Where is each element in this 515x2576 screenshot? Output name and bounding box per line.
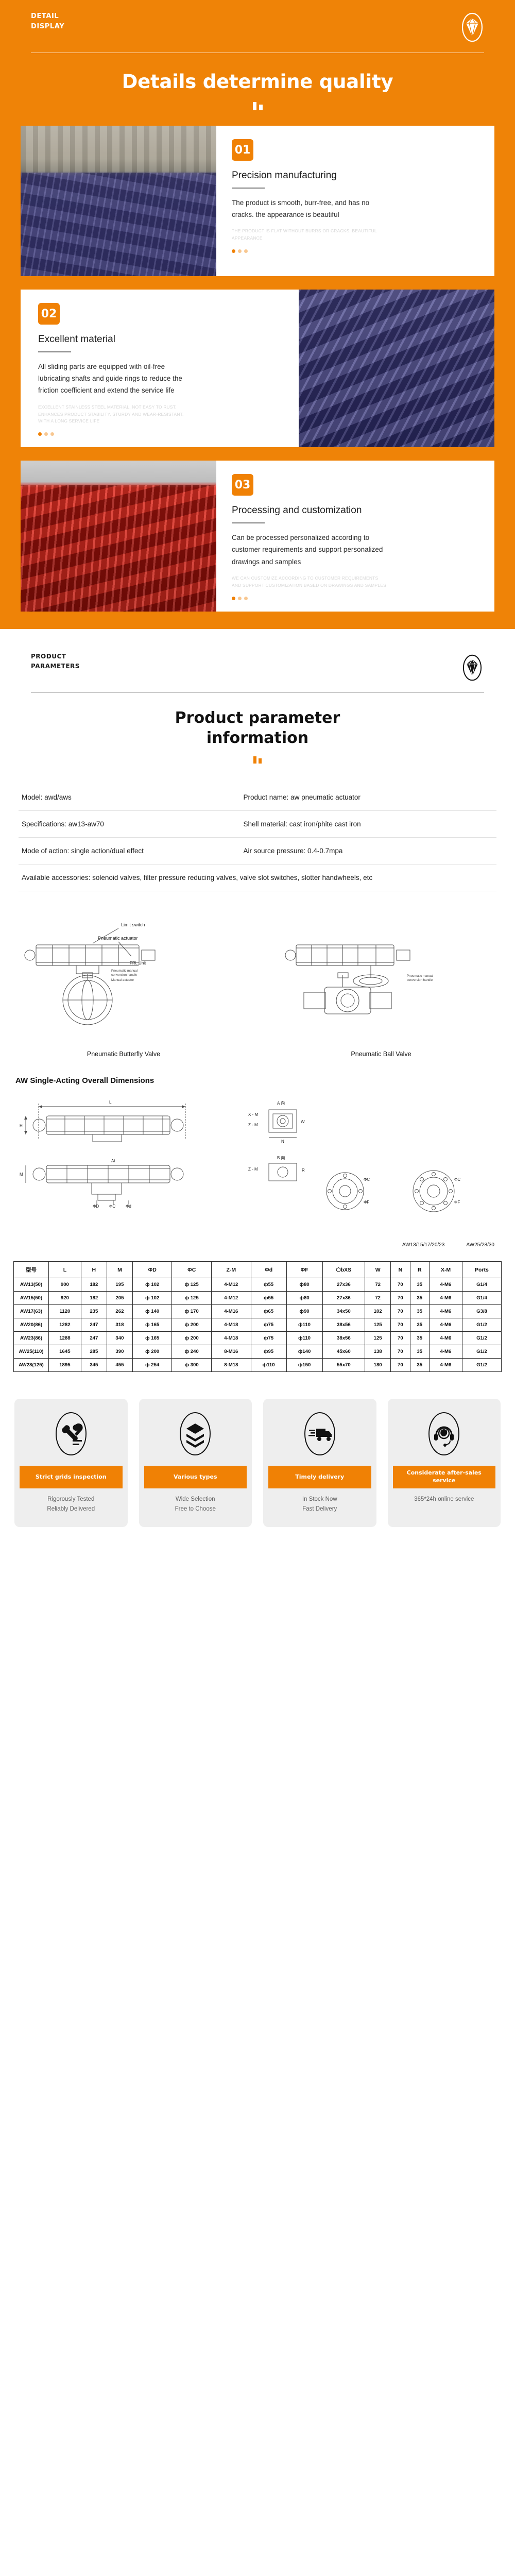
table-cell: G1/4 bbox=[462, 1278, 501, 1292]
feature-card-03-body: 03 Processing and customization Can be p… bbox=[216, 461, 494, 611]
table-cell: 180 bbox=[365, 1359, 391, 1372]
feature-subtext-02: EXCELLENT STAINLESS STEEL MATERIAL, NOT … bbox=[38, 404, 193, 426]
dim-label-H: H bbox=[20, 1124, 23, 1128]
table-cell: 4-M6 bbox=[429, 1332, 462, 1345]
table-cell: 35 bbox=[410, 1278, 429, 1292]
service-badges: Strict grids inspection Rigorously Teste… bbox=[14, 1399, 501, 1527]
table-cell: ф 200 bbox=[172, 1318, 211, 1332]
table-row: AW15(50)920182205ф 102ф 1254-M12ф55ф8027… bbox=[14, 1292, 502, 1305]
parameter-air-source-pressure: Air source pressure: 0.4-0.7mpa bbox=[244, 847, 493, 855]
table-cell: 900 bbox=[49, 1278, 81, 1292]
svg-text:ΦF: ΦF bbox=[364, 1200, 369, 1205]
table-cell: 455 bbox=[107, 1359, 132, 1372]
table-cell: 70 bbox=[391, 1345, 410, 1359]
dimension-table-wrap: 型号LHMΦDΦCZ-MΦdΦF⬡bXSWNRX-MPorts AW13(50)… bbox=[13, 1261, 502, 1372]
params-title-line1: Product parameter bbox=[0, 708, 515, 728]
feature-number-badge-01: 01 bbox=[232, 139, 253, 161]
table-cell: 8-M16 bbox=[211, 1345, 251, 1359]
service-sub-line1: Wide Selection bbox=[175, 1495, 216, 1504]
table-cell: ф 102 bbox=[132, 1292, 171, 1305]
table-cell: 1895 bbox=[49, 1359, 81, 1372]
feature-title-01: Precision manufacturing bbox=[232, 170, 479, 181]
caption-butterfly-valve: Pneumatic Butterfly Valve bbox=[0, 1050, 247, 1058]
service-label-types: Various types bbox=[144, 1466, 247, 1488]
parameter-mode-of-action: Mode of action: single action/dual effec… bbox=[22, 847, 244, 855]
hero-kicker-line2: DISPLAY bbox=[31, 22, 64, 32]
table-column-header: H bbox=[81, 1262, 107, 1278]
table-cell: 45x60 bbox=[322, 1345, 365, 1359]
service-card-delivery[interactable]: Timely delivery In Stock Now Fast Delive… bbox=[263, 1399, 376, 1527]
title-underline bbox=[38, 351, 71, 352]
table-cell: 72 bbox=[365, 1278, 391, 1292]
table-cell: ф 254 bbox=[132, 1359, 171, 1372]
table-cell: 262 bbox=[107, 1305, 132, 1318]
feature-dots-01 bbox=[232, 249, 479, 253]
table-cell: 70 bbox=[391, 1359, 410, 1372]
table-cell: ф110 bbox=[251, 1359, 286, 1372]
svg-text:ΦF: ΦF bbox=[454, 1200, 460, 1205]
feature-title-03: Processing and customization bbox=[232, 505, 479, 516]
service-label-delivery: Timely delivery bbox=[268, 1466, 371, 1488]
table-cell: 35 bbox=[410, 1359, 429, 1372]
wrench-inspection-icon bbox=[52, 1409, 90, 1459]
parameter-row: Specifications: aw13-aw70 Shell material… bbox=[19, 811, 496, 838]
table-cell: AW17(63) bbox=[14, 1305, 49, 1318]
params-kicker-line1: PRODUCT bbox=[31, 652, 80, 662]
dim-label-B-view: B 向 bbox=[277, 1155, 285, 1160]
parameter-row: Available accessories: solenoid valves, … bbox=[19, 865, 496, 891]
dim-caption-1: AW13/15/17/20/23 bbox=[402, 1242, 444, 1248]
dimension-drawing: L H bbox=[15, 1093, 500, 1240]
table-cell: 70 bbox=[391, 1318, 410, 1332]
dim-label-R: R bbox=[302, 1168, 305, 1173]
table-cell: ф 170 bbox=[172, 1305, 211, 1318]
table-cell: ф80 bbox=[286, 1278, 322, 1292]
parameter-row: Mode of action: single action/dual effec… bbox=[19, 838, 496, 865]
table-cell: 4-M12 bbox=[211, 1292, 251, 1305]
table-cell: 318 bbox=[107, 1318, 132, 1332]
table-row: AW20(86)1282247318ф 165ф 2004-M18ф75ф110… bbox=[14, 1318, 502, 1332]
table-cell: 4-M6 bbox=[429, 1359, 462, 1372]
parameter-list: Model: awd/aws Product name: aw pneumati… bbox=[19, 784, 496, 891]
feature-subtext-03: WE CAN CUSTOMIZE ACCORDING TO CUSTOMER R… bbox=[232, 575, 386, 589]
table-cell: 70 bbox=[391, 1305, 410, 1318]
table-cell: 1282 bbox=[49, 1318, 81, 1332]
table-cell: ф150 bbox=[286, 1359, 322, 1372]
table-cell: 247 bbox=[81, 1332, 107, 1345]
table-cell: 8-M18 bbox=[211, 1359, 251, 1372]
feature-description-02: All sliding parts are equipped with oil-… bbox=[38, 361, 193, 397]
service-sub-line2: Fast Delivery bbox=[302, 1504, 337, 1514]
table-cell: ф 300 bbox=[172, 1359, 211, 1372]
svg-text:conversion handle: conversion handle bbox=[111, 973, 138, 977]
table-cell: ф 200 bbox=[172, 1332, 211, 1345]
table-cell: ф110 bbox=[286, 1318, 322, 1332]
dimension-table: 型号LHMΦDΦCZ-MΦdΦF⬡bXSWNRX-MPorts AW13(50)… bbox=[13, 1261, 502, 1372]
table-cell: ф 240 bbox=[172, 1345, 211, 1359]
hero-dot-accent bbox=[0, 102, 515, 110]
table-cell: G1/2 bbox=[462, 1359, 501, 1372]
table-cell: 4-M6 bbox=[429, 1345, 462, 1359]
layers-icon bbox=[176, 1409, 214, 1459]
hero-kicker-line1: DETAIL bbox=[31, 11, 64, 22]
table-cell: 182 bbox=[81, 1292, 107, 1305]
table-cell: ф140 bbox=[286, 1345, 322, 1359]
table-cell: ф 125 bbox=[172, 1292, 211, 1305]
table-cell: ф 140 bbox=[132, 1305, 171, 1318]
hero-divider bbox=[31, 53, 484, 53]
table-cell: 38x56 bbox=[322, 1318, 365, 1332]
table-cell: ф90 bbox=[286, 1305, 322, 1318]
table-column-header: N bbox=[391, 1262, 410, 1278]
table-cell: 1645 bbox=[49, 1345, 81, 1359]
table-cell: ф55 bbox=[251, 1278, 286, 1292]
table-column-header: Φd bbox=[251, 1262, 286, 1278]
table-cell: 285 bbox=[81, 1345, 107, 1359]
params-title-line2: information bbox=[0, 728, 515, 748]
hero-header: DETAIL DISPLAY bbox=[0, 0, 515, 43]
diagram-label-frl-unit: FRL Unit bbox=[130, 961, 146, 965]
title-underline bbox=[232, 188, 265, 189]
parameter-shell-material: Shell material: cast iron/phite cast iro… bbox=[244, 820, 493, 828]
diagram-label-limit-switch: Limit switch bbox=[121, 922, 145, 927]
table-cell: 4-M16 bbox=[211, 1305, 251, 1318]
parameter-model: Model: awd/aws bbox=[22, 793, 244, 801]
params-header: PRODUCT PARAMETERS bbox=[0, 642, 515, 684]
feature-card-02-body: 02 Excellent material All sliding parts … bbox=[21, 290, 299, 447]
feature-image-03 bbox=[21, 461, 216, 611]
valve-diagram: Limit switch Pneumatic actuator FRL Unit… bbox=[15, 915, 500, 1046]
feature-dots-03 bbox=[232, 597, 479, 600]
diagram-label-pneumatic-manual: Pneumatic manual bbox=[111, 969, 138, 973]
headset-support-icon bbox=[425, 1409, 463, 1459]
dim-label-L: L bbox=[109, 1100, 112, 1105]
dim-label-M: M bbox=[20, 1172, 23, 1177]
dim-label-N: N bbox=[281, 1139, 284, 1144]
dim-label-W: W bbox=[301, 1120, 305, 1124]
feature-dots-02 bbox=[38, 432, 283, 436]
product-parameters-section: PRODUCT PARAMETERS Product parameter inf… bbox=[0, 629, 515, 1372]
diamond-icon bbox=[460, 11, 484, 43]
page-title: Details determine quality bbox=[0, 71, 515, 93]
table-cell: 102 bbox=[365, 1305, 391, 1318]
service-sub-line1: Rigorously Tested bbox=[47, 1495, 95, 1504]
table-row: AW25(110)1645285390ф 200ф 2408-M16ф95ф14… bbox=[14, 1345, 502, 1359]
table-cell: 27x36 bbox=[322, 1278, 365, 1292]
service-sub-types: Wide Selection Free to Choose bbox=[175, 1495, 216, 1514]
table-column-header: ΦF bbox=[286, 1262, 322, 1278]
table-cell: 4-M18 bbox=[211, 1332, 251, 1345]
table-row: AW23(86)1288247340ф 165ф 2004-M18ф75ф110… bbox=[14, 1332, 502, 1345]
service-label-after-sales: Considerate after-sales service bbox=[393, 1466, 496, 1488]
svg-text:conversion handle: conversion handle bbox=[407, 978, 433, 982]
feature-image-01 bbox=[21, 126, 216, 276]
table-column-header: R bbox=[410, 1262, 429, 1278]
svg-text:ΦC: ΦC bbox=[364, 1177, 370, 1182]
feature-number-badge-03: 03 bbox=[232, 474, 253, 496]
title-underline bbox=[232, 522, 265, 523]
feature-title-02: Excellent material bbox=[38, 334, 283, 345]
table-cell: 1120 bbox=[49, 1305, 81, 1318]
table-column-header: L bbox=[49, 1262, 81, 1278]
table-cell: 4-M6 bbox=[429, 1305, 462, 1318]
hero-kicker: DETAIL DISPLAY bbox=[31, 11, 64, 32]
table-cell: 138 bbox=[365, 1345, 391, 1359]
params-dot-accent bbox=[0, 756, 515, 764]
service-card-types[interactable]: Various types Wide Selection Free to Cho… bbox=[139, 1399, 252, 1527]
table-column-header: ΦD bbox=[132, 1262, 171, 1278]
table-cell: AW25(110) bbox=[14, 1345, 49, 1359]
service-sub-inspection: Rigorously Tested Reliably Delivered bbox=[47, 1495, 95, 1514]
table-cell: ф75 bbox=[251, 1332, 286, 1345]
table-cell: 125 bbox=[365, 1332, 391, 1345]
service-label-inspection: Strict grids inspection bbox=[20, 1466, 123, 1488]
parameter-specifications: Specifications: aw13-aw70 bbox=[22, 820, 244, 828]
feature-card-03: 03 Processing and customization Can be p… bbox=[21, 461, 494, 611]
feature-number-badge-02: 02 bbox=[38, 303, 60, 325]
table-cell: 182 bbox=[81, 1278, 107, 1292]
svg-text:ΦC: ΦC bbox=[454, 1177, 460, 1182]
table-row: AW13(50)900182195ф 102ф 1254-M12ф55ф8027… bbox=[14, 1278, 502, 1292]
table-cell: AW23(86) bbox=[14, 1332, 49, 1345]
detail-display-hero: DETAIL DISPLAY Details determine quality… bbox=[0, 0, 515, 629]
table-cell: ф 102 bbox=[132, 1278, 171, 1292]
table-cell: 340 bbox=[107, 1332, 132, 1345]
table-column-header: X-M bbox=[429, 1262, 462, 1278]
delivery-truck-icon bbox=[301, 1409, 339, 1459]
service-card-inspection[interactable]: Strict grids inspection Rigorously Teste… bbox=[14, 1399, 128, 1527]
feature-description-01: The product is smooth, burr-free, and ha… bbox=[232, 197, 386, 221]
diagram-label-pneumatic-actuator: Pneumatic actuator bbox=[98, 936, 138, 941]
table-column-header: ⬡bXS bbox=[322, 1262, 365, 1278]
table-cell: 1288 bbox=[49, 1332, 81, 1345]
feature-card-01: 01 Precision manufacturing The product i… bbox=[21, 126, 494, 276]
table-cell: 390 bbox=[107, 1345, 132, 1359]
dim-label-XM-a: X - M bbox=[248, 1112, 258, 1117]
table-cell: ф 125 bbox=[172, 1278, 211, 1292]
params-kicker: PRODUCT PARAMETERS bbox=[31, 652, 80, 671]
table-cell: 55x70 bbox=[322, 1359, 365, 1372]
table-cell: 247 bbox=[81, 1318, 107, 1332]
table-cell: G1/4 bbox=[462, 1292, 501, 1305]
service-sub-delivery: In Stock Now Fast Delivery bbox=[302, 1495, 337, 1514]
table-cell: AW15(50) bbox=[14, 1292, 49, 1305]
table-cell: 35 bbox=[410, 1292, 429, 1305]
table-column-header: Z-M bbox=[211, 1262, 251, 1278]
service-card-after-sales[interactable]: Considerate after-sales service 365*24h … bbox=[388, 1399, 501, 1527]
feature-image-02 bbox=[299, 290, 494, 447]
table-column-header: M bbox=[107, 1262, 132, 1278]
table-row: AW28(125)1895345455ф 254ф 3008-M18ф110ф1… bbox=[14, 1359, 502, 1372]
table-cell: ф55 bbox=[251, 1292, 286, 1305]
dimensions-section-title: AW Single-Acting Overall Dimensions bbox=[15, 1076, 515, 1085]
feature-description-03: Can be processed personalized according … bbox=[232, 532, 386, 568]
table-cell: 35 bbox=[410, 1318, 429, 1332]
feature-card-02: 02 Excellent material All sliding parts … bbox=[21, 290, 494, 447]
table-row: AW17(63)1120235262ф 140ф 1704-M16ф65ф903… bbox=[14, 1305, 502, 1318]
parameter-row: Model: awd/aws Product name: aw pneumati… bbox=[19, 784, 496, 811]
table-cell: ф65 bbox=[251, 1305, 286, 1318]
table-cell: G1/2 bbox=[462, 1318, 501, 1332]
table-cell: 70 bbox=[391, 1332, 410, 1345]
table-cell: 70 bbox=[391, 1292, 410, 1305]
table-cell: G1/2 bbox=[462, 1345, 501, 1359]
params-divider bbox=[31, 692, 484, 693]
dimension-drawing-captions: AW13/15/17/20/23 AW25/28/30 bbox=[0, 1242, 515, 1248]
service-sub-line1: 365*24h online service bbox=[414, 1495, 474, 1504]
table-cell: 35 bbox=[410, 1345, 429, 1359]
table-cell: 70 bbox=[391, 1278, 410, 1292]
feature-card-list: 01 Precision manufacturing The product i… bbox=[0, 126, 515, 612]
table-cell: 4-M6 bbox=[429, 1318, 462, 1332]
table-cell: 195 bbox=[107, 1278, 132, 1292]
dim-label-Ai: Ai bbox=[111, 1159, 115, 1163]
feature-card-01-body: 01 Precision manufacturing The product i… bbox=[216, 126, 494, 276]
table-cell: 4-M18 bbox=[211, 1318, 251, 1332]
table-column-header: ΦC bbox=[172, 1262, 211, 1278]
table-column-header: Ports bbox=[462, 1262, 501, 1278]
service-sub-line2: Free to Choose bbox=[175, 1504, 216, 1514]
table-cell: 34x50 bbox=[322, 1305, 365, 1318]
diagram-label-manual-actuator: Manual actuator bbox=[111, 978, 134, 982]
diagram-label-pneumatic-manual-right: Pneumatic manual bbox=[407, 974, 433, 978]
feature-subtext-01: THE PRODUCT IS FLAT WITHOUT BURRS OR CRA… bbox=[232, 228, 386, 242]
dim-label-phiD: ΦD bbox=[93, 1204, 99, 1209]
valve-captions: Pneumatic Butterfly Valve Pneumatic Ball… bbox=[0, 1050, 515, 1058]
table-cell: 4-M6 bbox=[429, 1292, 462, 1305]
table-cell: AW13(50) bbox=[14, 1278, 49, 1292]
dim-label-ZM-b: Z - M bbox=[248, 1167, 258, 1172]
dim-label-phid: Φd bbox=[126, 1204, 131, 1209]
params-kicker-line2: PARAMETERS bbox=[31, 662, 80, 671]
table-cell: ф 165 bbox=[132, 1332, 171, 1345]
parameter-product-name: Product name: aw pneumatic actuator bbox=[244, 793, 493, 801]
table-cell: 4-M12 bbox=[211, 1278, 251, 1292]
table-cell: ф95 bbox=[251, 1345, 286, 1359]
dim-label-phiC: ΦC bbox=[109, 1204, 115, 1209]
table-cell: 4-M6 bbox=[429, 1278, 462, 1292]
table-cell: ф110 bbox=[286, 1332, 322, 1345]
table-cell: 235 bbox=[81, 1305, 107, 1318]
table-cell: 38x56 bbox=[322, 1332, 365, 1345]
table-cell: 125 bbox=[365, 1318, 391, 1332]
diamond-icon bbox=[460, 652, 484, 684]
table-cell: G1/2 bbox=[462, 1332, 501, 1345]
caption-ball-valve: Pneumatic Ball Valve bbox=[247, 1050, 515, 1058]
table-cell: 205 bbox=[107, 1292, 132, 1305]
table-cell: ф 165 bbox=[132, 1318, 171, 1332]
service-sub-line1: In Stock Now bbox=[302, 1495, 337, 1504]
dim-label-A-view: A 向 bbox=[277, 1100, 285, 1106]
table-cell: 27x36 bbox=[322, 1292, 365, 1305]
table-cell: AW28(125) bbox=[14, 1359, 49, 1372]
table-column-header: W bbox=[365, 1262, 391, 1278]
parameter-available-accessories: Available accessories: solenoid valves, … bbox=[22, 874, 493, 882]
table-cell: 35 bbox=[410, 1305, 429, 1318]
table-cell: 345 bbox=[81, 1359, 107, 1372]
params-title: Product parameter information bbox=[0, 708, 515, 748]
table-column-header: 型号 bbox=[14, 1262, 49, 1278]
service-sub-after-sales: 365*24h online service bbox=[414, 1495, 474, 1504]
dim-caption-2: AW25/28/30 bbox=[466, 1242, 494, 1248]
service-sub-line2: Reliably Delivered bbox=[47, 1504, 95, 1514]
table-cell: 35 bbox=[410, 1332, 429, 1345]
table-cell: 920 bbox=[49, 1292, 81, 1305]
table-cell: ф75 bbox=[251, 1318, 286, 1332]
table-cell: 72 bbox=[365, 1292, 391, 1305]
table-cell: AW20(86) bbox=[14, 1318, 49, 1332]
table-cell: G3/8 bbox=[462, 1305, 501, 1318]
dim-label-ZM-a: Z - M bbox=[248, 1123, 258, 1127]
table-cell: ф80 bbox=[286, 1292, 322, 1305]
table-cell: ф 200 bbox=[132, 1345, 171, 1359]
table-header-row: 型号LHMΦDΦCZ-MΦdΦF⬡bXSWNRX-MPorts bbox=[14, 1262, 502, 1278]
